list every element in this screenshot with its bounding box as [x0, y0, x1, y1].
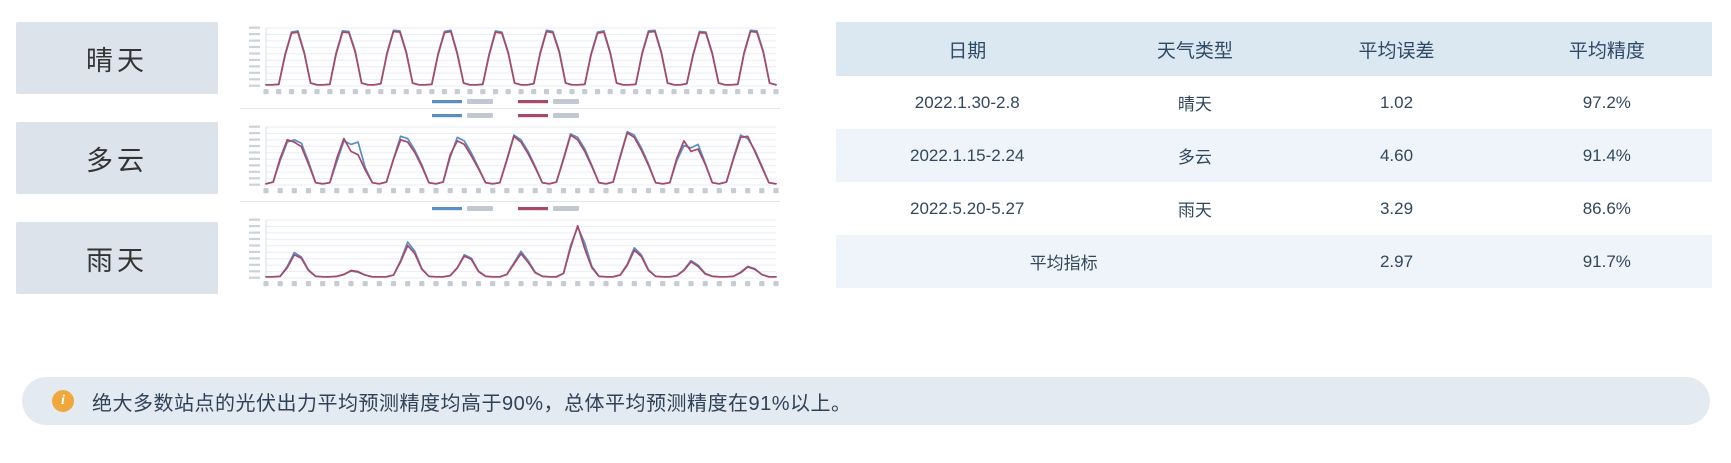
chart-cloudy [240, 111, 780, 199]
chart-sunny [240, 18, 780, 106]
metrics-table: 日期 天气类型 平均误差 平均精度 2022.1.30-2.8 晴天 1.02 … [836, 22, 1712, 288]
cell-mean-error: 3.29 [1291, 182, 1501, 235]
weather-label-cloudy: 多云 [16, 122, 218, 194]
cell-mean-accuracy: 91.4% [1502, 129, 1712, 182]
table-row: 2022.5.20-5.27 雨天 3.29 86.6% [836, 182, 1712, 235]
summary-note-text: 绝大多数站点的光伏出力平均预测精度均高于90%，总体平均预测精度在91%以上。 [92, 387, 852, 416]
table-row: 2022.1.30-2.8 晴天 1.02 97.2% [836, 76, 1712, 129]
cell-weather-type: 雨天 [1098, 182, 1291, 235]
cell-mean-accuracy: 91.7% [1502, 235, 1712, 288]
weather-label-cloudy-text: 多云 [86, 139, 148, 178]
chart-divider-2 [240, 201, 780, 202]
table-header-row: 日期 天气类型 平均误差 平均精度 [836, 22, 1712, 76]
metrics-table-head: 日期 天气类型 平均误差 平均精度 [836, 22, 1712, 76]
cell-weather-type: 多云 [1098, 129, 1291, 182]
cell-mean-error: 2.97 [1291, 235, 1501, 288]
table-row-summary: 平均指标 2.97 91.7% [836, 235, 1712, 288]
metrics-table-wrap: 日期 天气类型 平均误差 平均精度 2022.1.30-2.8 晴天 1.02 … [836, 22, 1712, 288]
col-header-weather-type[interactable]: 天气类型 [1098, 22, 1291, 76]
cell-mean-error: 1.02 [1291, 76, 1501, 129]
metrics-table-body: 2022.1.30-2.8 晴天 1.02 97.2% 2022.1.15-2.… [836, 76, 1712, 288]
cell-weather-type: 晴天 [1098, 76, 1291, 129]
report-panel: 晴天 多云 雨天 日期 天气类型 平均误差 平均精度 [0, 0, 1731, 463]
weather-label-sunny: 晴天 [16, 22, 218, 94]
cell-mean-accuracy: 97.2% [1502, 76, 1712, 129]
cell-mean-accuracy: 86.6% [1502, 182, 1712, 235]
chart-rainy [240, 204, 780, 292]
table-row: 2022.1.15-2.24 多云 4.60 91.4% [836, 129, 1712, 182]
chart-divider-1 [240, 108, 780, 109]
col-header-mean-error[interactable]: 平均误差 [1291, 22, 1501, 76]
weather-label-sunny-text: 晴天 [86, 39, 148, 78]
cell-mean-error: 4.60 [1291, 129, 1501, 182]
col-header-mean-accuracy[interactable]: 平均精度 [1502, 22, 1712, 76]
weather-label-column: 晴天 多云 雨天 [16, 22, 218, 294]
cell-summary-label: 平均指标 [836, 235, 1291, 288]
info-icon: i [52, 390, 74, 412]
col-header-date[interactable]: 日期 [836, 22, 1098, 76]
cell-date: 2022.1.30-2.8 [836, 76, 1098, 129]
forecast-chart-column [240, 18, 780, 293]
cell-date: 2022.5.20-5.27 [836, 182, 1098, 235]
weather-label-rainy: 雨天 [16, 222, 218, 294]
summary-note: i 绝大多数站点的光伏出力平均预测精度均高于90%，总体平均预测精度在91%以上… [22, 377, 1710, 425]
weather-label-rainy-text: 雨天 [86, 239, 148, 278]
cell-date: 2022.1.15-2.24 [836, 129, 1098, 182]
